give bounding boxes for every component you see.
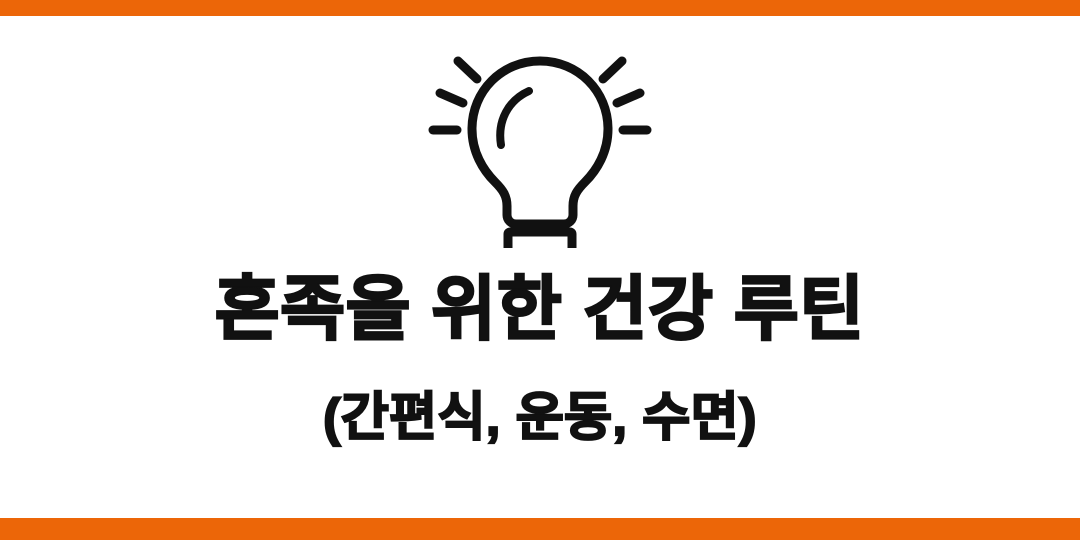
page-subtitle: (간편식, 운동, 수면) <box>323 392 757 444</box>
lightbulb-icon <box>425 48 655 248</box>
bulb-socket-rect <box>508 232 572 248</box>
top-accent-bar <box>0 0 1080 16</box>
ray-right-upper <box>603 61 622 79</box>
bulb-glass-path <box>472 61 608 224</box>
ray-left-upper <box>458 61 477 79</box>
page-title: 혼족을 위한 건강 루틴 <box>215 274 865 344</box>
ray-right-mid <box>617 93 640 103</box>
thumbnail-canvas: 혼족을 위한 건강 루틴 (간편식, 운동, 수면) <box>0 0 1080 540</box>
bottom-accent-bar <box>0 518 1080 540</box>
bulb-highlight-arc <box>500 91 529 145</box>
ray-left-mid <box>440 93 463 103</box>
content-stack: 혼족을 위한 건강 루틴 (간편식, 운동, 수면) <box>0 16 1080 518</box>
